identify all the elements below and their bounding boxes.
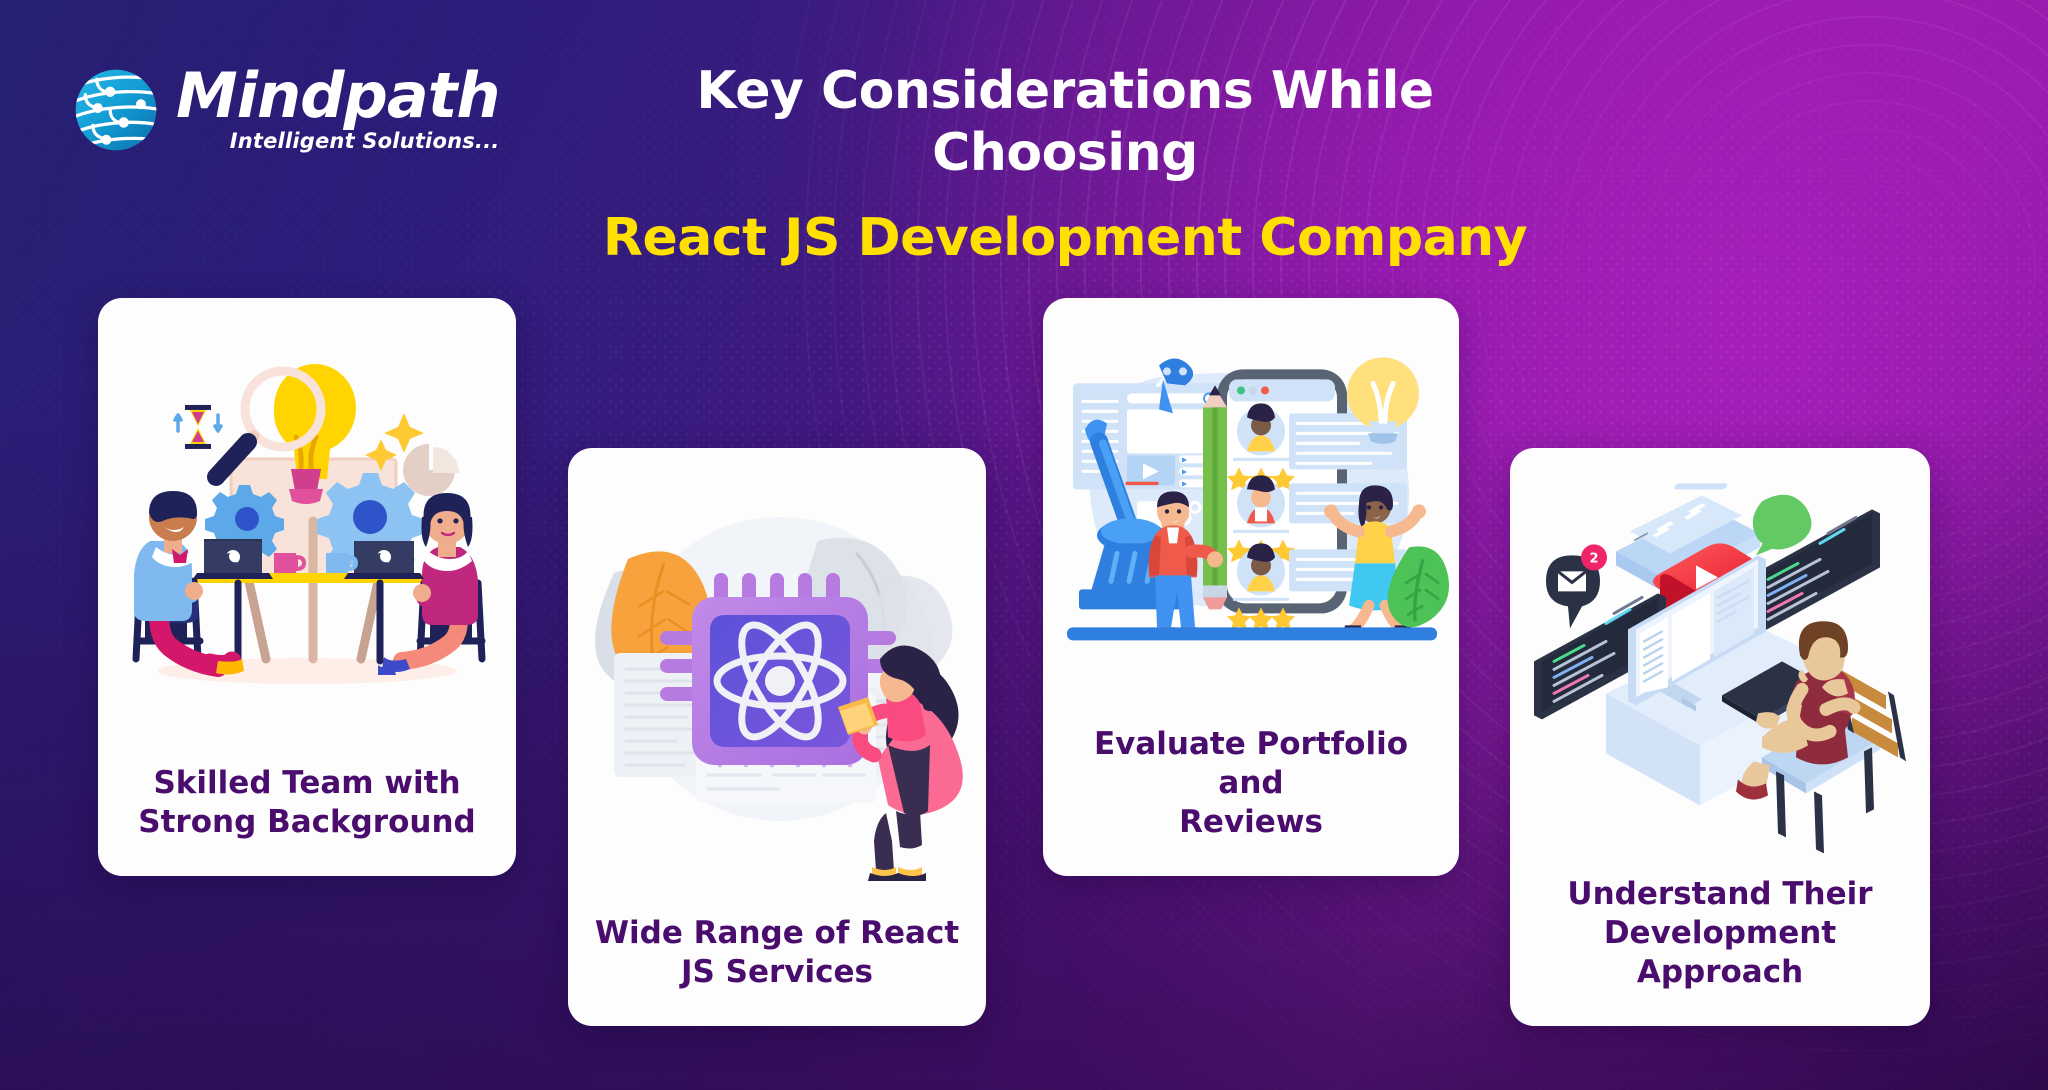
card-title: Evaluate Portfolio and Reviews — [1043, 725, 1459, 876]
svg-text:2: 2 — [1589, 551, 1598, 566]
brand-name: Mindpath — [176, 66, 499, 127]
card-skilled-team[interactable]: Skilled Team with Strong Background — [98, 298, 516, 876]
header: Mindpath Intelligent Solutions... Key Co… — [0, 0, 2048, 230]
card-title: Skilled Team with Strong Background — [98, 764, 516, 876]
title-line-primary: Key Considerations While Choosing — [560, 60, 1570, 185]
network-globe-icon — [68, 62, 164, 158]
card-title: Understand Their Development Approach — [1510, 875, 1930, 1026]
mobile-reviews-ratings-illustration — [1043, 298, 1459, 725]
brand-logo: Mindpath Intelligent Solutions... — [68, 62, 499, 158]
team-brainstorm-lightbulb-illustration — [98, 298, 516, 764]
react-chip-developer-illustration — [568, 448, 986, 914]
brand-tagline: Intelligent Solutions... — [176, 129, 499, 153]
card-react-services[interactable]: Wide Range of React JS Services — [568, 448, 986, 1026]
page-title: Key Considerations While Choosing React … — [560, 60, 1570, 269]
brand-wordmark: Mindpath Intelligent Solutions... — [176, 62, 499, 153]
developer-workstation-isometric-illustration: 2 — [1510, 448, 1930, 875]
card-portfolio-reviews[interactable]: Evaluate Portfolio and Reviews — [1043, 298, 1459, 876]
title-line-highlight: React JS Development Company — [560, 207, 1570, 269]
card-development-approach[interactable]: 2 Understand Their Development Approach — [1510, 448, 1930, 1026]
card-title: Wide Range of React JS Services — [568, 914, 986, 1026]
